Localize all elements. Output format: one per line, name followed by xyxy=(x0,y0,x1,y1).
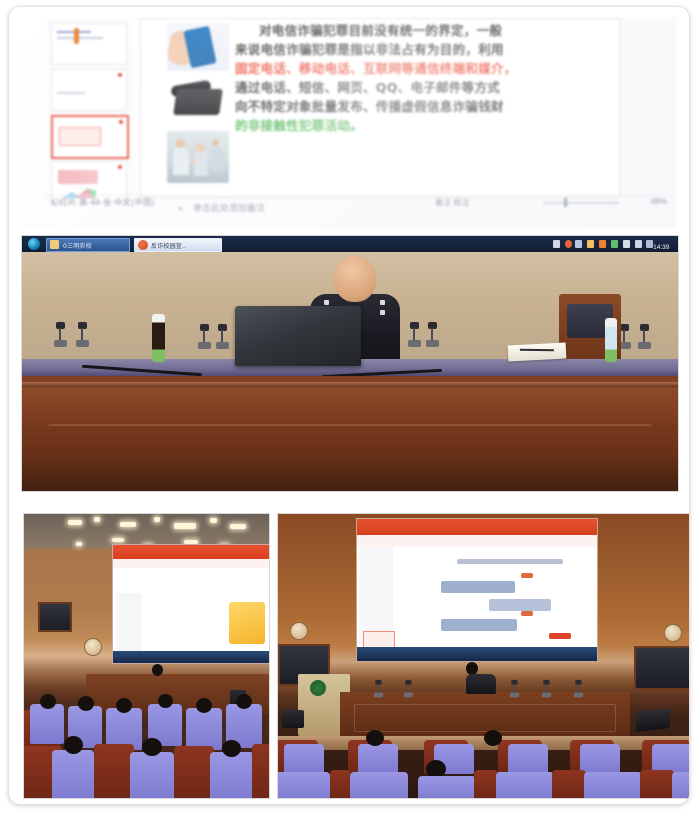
document-canvas xyxy=(113,568,269,648)
lecture-hall-wide-photo xyxy=(277,513,690,799)
projection-screen xyxy=(112,544,269,664)
shield-icon[interactable] xyxy=(623,240,630,248)
taskbar-window-folder[interactable]: 0三明农校 xyxy=(46,238,130,252)
microphone xyxy=(200,324,209,350)
wall-cabinet xyxy=(634,646,690,690)
student-head xyxy=(484,730,502,746)
collage-card: 对电信诈骗犯罪目前没有统一的界定，一般 来说电信诈骗犯罪是指以非法占有为目的，利… xyxy=(8,6,690,805)
windows-taskbar xyxy=(113,651,269,663)
water-bottle xyxy=(605,318,617,362)
windows-taskbar[interactable]: 0三明农校 反诈校园宣.. xyxy=(22,236,678,252)
wooden-podium xyxy=(22,376,678,491)
student-in-uniform xyxy=(358,744,398,774)
thumbnail-marker-icon xyxy=(119,120,123,124)
taskbar-window-folder-label: 0三明农校 xyxy=(63,241,92,250)
cn-input-icon[interactable] xyxy=(553,240,560,248)
warning-icon[interactable] xyxy=(599,240,606,248)
status-slide-count: 幻灯片 第 48 张 中文(中国) xyxy=(51,197,155,208)
student-head xyxy=(222,740,241,757)
app-icon[interactable] xyxy=(565,240,572,248)
thumbnail-marker-icon xyxy=(118,73,122,77)
projection-screen xyxy=(356,518,598,662)
projection-screen-strip: 0三明农校 反诈校园宣.. xyxy=(22,236,678,252)
ceiling-light xyxy=(68,520,82,525)
student-in-uniform xyxy=(284,744,324,774)
smartphone-in-hand-image xyxy=(167,23,229,71)
family-group-image xyxy=(167,131,229,183)
desk-telephone-image xyxy=(167,75,229,127)
slide-text-line-5: 向不特定对象批量发布、传播虚假信息诈骗钱财 xyxy=(235,97,603,116)
slide-text-line-3: 固定电话、移动电话、互联网等通信终端和媒介， xyxy=(235,59,603,78)
taskbar-window-powerpoint[interactable]: 反诈校园宣.. xyxy=(134,238,222,252)
microphone xyxy=(511,680,517,698)
microphone xyxy=(428,322,437,348)
slide-accent xyxy=(521,611,533,616)
powerpoint-application: 对电信诈骗犯罪目前没有统一的界定，一般 来说电信诈骗犯罪是指以非法占有为目的，利… xyxy=(21,17,677,229)
powerpoint-status-bar: 幻灯片 第 48 张 中文(中国) 备注 批注 48% xyxy=(45,195,671,209)
slide-thumbnail-rail[interactable] xyxy=(47,19,131,204)
slide-word-art xyxy=(489,599,551,611)
auditorium-seat xyxy=(330,770,350,798)
zoom-slider[interactable] xyxy=(543,202,619,204)
wall-clock xyxy=(84,638,102,656)
zoom-level-label: 48% xyxy=(651,197,667,206)
ceiling xyxy=(24,514,269,548)
student-head xyxy=(196,698,212,713)
microphone xyxy=(78,322,87,348)
wall-clock xyxy=(664,624,682,642)
ceiling-light xyxy=(94,517,100,522)
ceiling-light xyxy=(112,538,124,542)
zoom-slider-handle[interactable] xyxy=(564,198,567,207)
slide-text-line-4: 通过电话、短信、网页、QQ、电子邮件等方式 xyxy=(235,78,603,97)
speaker-head xyxy=(334,256,376,302)
student-in-uniform xyxy=(210,752,254,798)
slide-thumbnail-1[interactable] xyxy=(51,23,127,65)
student-head xyxy=(40,694,56,709)
laptop-computer xyxy=(235,306,361,366)
student-head xyxy=(366,730,384,746)
student-head xyxy=(236,694,252,709)
student-head xyxy=(78,696,94,711)
folder-icon xyxy=(50,240,59,249)
wall-clock xyxy=(290,622,308,640)
slide-accent xyxy=(521,573,533,578)
seated-speaker-head xyxy=(152,664,163,676)
slide-canvas[interactable]: 对电信诈骗犯罪目前没有统一的界定，一般 来说电信诈骗犯罪是指以非法占有为目的，利… xyxy=(141,19,619,197)
microphone xyxy=(405,680,411,698)
auditorium-seat xyxy=(552,770,586,798)
tray-overflow-icon[interactable] xyxy=(575,240,582,248)
student-in-uniform xyxy=(130,752,174,798)
student-head xyxy=(64,736,83,754)
microphone xyxy=(375,680,381,698)
student-in-uniform xyxy=(672,772,690,798)
collage-page: 对电信诈骗犯罪目前没有统一的界定，一般 来说电信诈骗犯罪是指以非法占有为目的，利… xyxy=(0,0,700,815)
slide-text-line-2-text: 来说电信诈骗犯罪是指以非法占有为目的，利用 xyxy=(235,42,504,57)
ceiling-light xyxy=(120,522,136,527)
slide-word-art xyxy=(441,619,517,631)
student-in-uniform xyxy=(30,704,64,744)
auditorium-audience-photo xyxy=(23,513,270,799)
ceiling-light xyxy=(230,524,246,529)
ribbon-bar xyxy=(357,519,597,535)
floor-loudspeaker xyxy=(636,708,670,732)
slide-text-line-6: 的非接触性犯罪活动。 xyxy=(235,116,603,135)
auditorium-seat xyxy=(474,770,498,798)
slide-text-line-1: 对电信诈骗犯罪目前没有统一的界定，一般 xyxy=(235,21,603,40)
microphone xyxy=(56,322,65,348)
slide-word-art xyxy=(441,581,515,593)
ceiling-light xyxy=(174,523,196,529)
floor-loudspeaker xyxy=(282,710,304,728)
auditorium-seat xyxy=(252,744,269,798)
ribbon-bar xyxy=(113,545,269,559)
ribbon-tabs xyxy=(357,535,597,547)
browser-icon[interactable] xyxy=(28,238,40,250)
student-in-uniform xyxy=(418,776,476,798)
water-bottle xyxy=(152,314,165,362)
battery-icon[interactable] xyxy=(587,240,594,248)
student-in-uniform xyxy=(186,708,222,750)
student-in-uniform xyxy=(496,772,554,798)
student-in-uniform xyxy=(580,744,620,774)
microphone xyxy=(575,680,581,698)
auditorium-seat xyxy=(174,746,214,798)
student-head xyxy=(116,698,132,713)
student-in-uniform xyxy=(508,744,548,774)
status-notes-comments: 备注 批注 xyxy=(435,197,469,208)
ceiling-light xyxy=(154,517,160,522)
microphone xyxy=(640,324,649,350)
slide-thumbnail-2[interactable] xyxy=(51,69,127,111)
microphone xyxy=(543,680,549,698)
slide-thumbnail-3-selected[interactable] xyxy=(51,115,129,159)
slide-title-text xyxy=(457,559,563,564)
windows-taskbar xyxy=(357,647,597,661)
ribbon-tabs xyxy=(113,559,269,568)
speaker-at-podium-photo: 0三明农校 反诈校园宣.. xyxy=(21,235,679,492)
student-in-uniform xyxy=(278,772,330,798)
seated-speaker-body xyxy=(466,674,496,694)
microphone xyxy=(410,322,419,348)
ceiling-light xyxy=(210,518,217,523)
slide-body-text: 对电信诈骗犯罪目前没有统一的界定，一般 来说电信诈骗犯罪是指以非法占有为目的，利… xyxy=(235,21,603,135)
ceiling-light xyxy=(76,542,82,546)
student-in-uniform xyxy=(52,750,94,798)
student-head xyxy=(158,694,173,708)
slide-image-column xyxy=(167,23,229,183)
slide-canvas xyxy=(397,547,595,645)
thumbnail-marker-icon xyxy=(118,165,122,169)
student-in-uniform xyxy=(584,772,642,798)
taskbar-window-powerpoint-label: 反诈校园宣.. xyxy=(151,241,186,250)
slide-artwork xyxy=(229,602,265,644)
open-notebook xyxy=(508,342,567,361)
clock-time: 14:39 xyxy=(653,244,669,251)
microphone xyxy=(620,324,629,350)
student-head xyxy=(142,738,162,756)
powerpoint-icon xyxy=(138,240,148,250)
projected-powerpoint-slide-photo: 对电信诈骗犯罪目前没有统一的界定，一般 来说电信诈骗犯罪是指以非法占有为目的，利… xyxy=(21,17,677,229)
slide-thumbnail-panel xyxy=(359,547,393,645)
auditorium-seat xyxy=(94,744,134,798)
slide-text-line-2: 来说电信诈骗犯罪是指以非法占有为目的，利用 xyxy=(235,40,603,59)
slide-accent xyxy=(549,633,571,639)
auditorium-seat xyxy=(640,770,674,798)
wall-monitor xyxy=(38,602,72,632)
volume-icon[interactable] xyxy=(635,240,642,248)
network-icon[interactable] xyxy=(611,240,618,248)
student-in-uniform xyxy=(350,772,408,798)
microphone xyxy=(218,324,227,350)
